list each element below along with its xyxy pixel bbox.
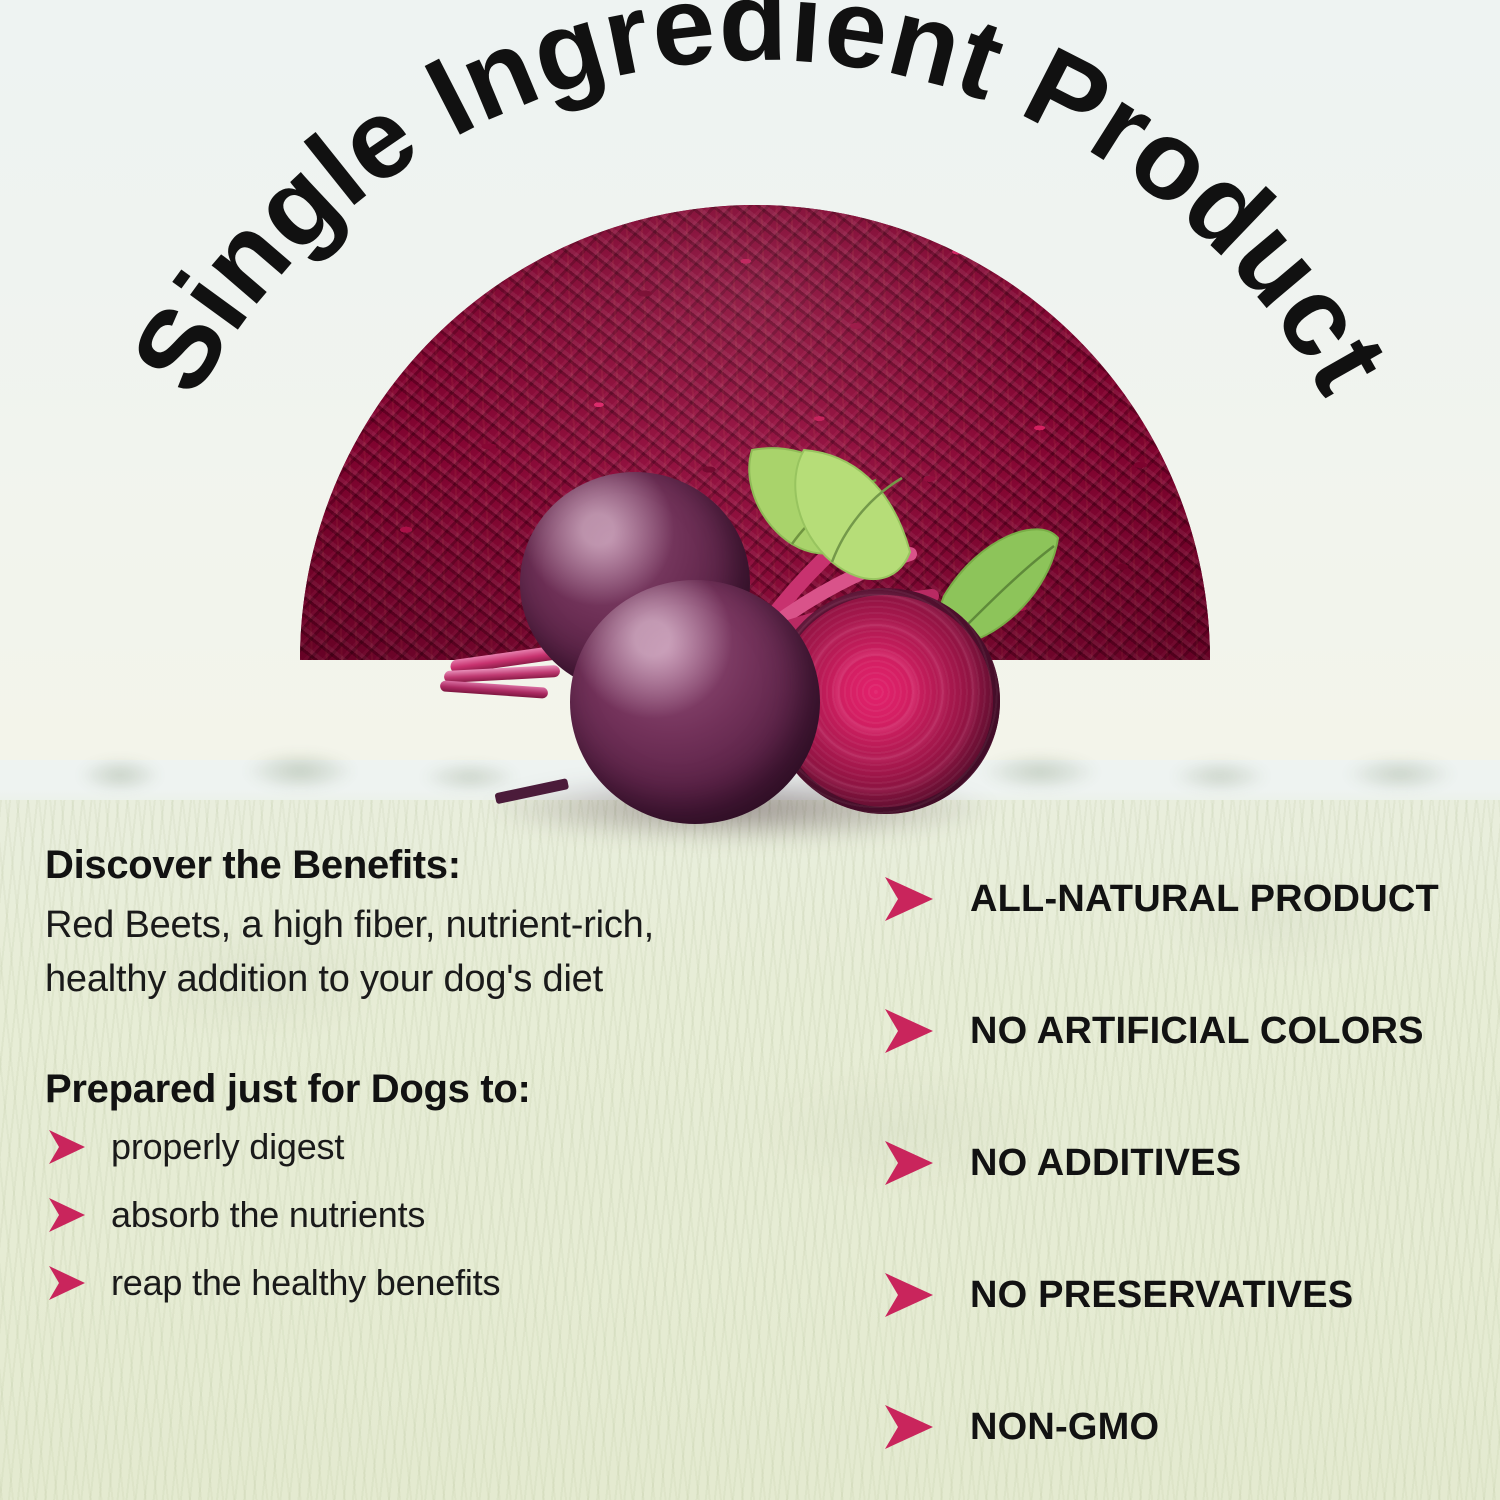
claim-label: NO ADDITIVES: [970, 1142, 1241, 1185]
prepared-item-label: absorb the nutrients: [111, 1194, 425, 1236]
benefits-body: Red Beets, a high fiber, nutrient-rich, …: [45, 899, 765, 1007]
claims-list: ALL-NATURAL PRODUCT NO ARTIFICIAL COLORS…: [880, 833, 1480, 1493]
arrow-bullet-icon: [880, 870, 938, 928]
claims-column: ALL-NATURAL PRODUCT NO ARTIFICIAL COLORS…: [880, 833, 1480, 1493]
arrow-bullet-icon: [880, 1398, 938, 1456]
arrow-bullet-icon: [880, 1134, 938, 1192]
prepared-list: properly digest absorb the nutrients rea…: [45, 1125, 765, 1305]
list-item: NO ADDITIVES: [880, 1097, 1480, 1229]
list-item: ALL-NATURAL PRODUCT: [880, 833, 1480, 965]
claim-label: NO ARTIFICIAL COLORS: [970, 1010, 1424, 1053]
list-item: absorb the nutrients: [45, 1193, 765, 1237]
arrow-bullet-icon: [880, 1002, 938, 1060]
prepared-heading: Prepared just for Dogs to:: [45, 1067, 765, 1111]
product-infographic: Single Ingredient Product: [0, 0, 1500, 1500]
prepared-item-label: properly digest: [111, 1126, 344, 1168]
benefits-heading: Discover the Benefits:: [45, 843, 765, 887]
list-item: NO PRESERVATIVES: [880, 1229, 1480, 1361]
arc-headline-textpath: Single Ingredient Product: [107, 0, 1414, 413]
list-item: properly digest: [45, 1125, 765, 1169]
fresh-beets-image: [440, 420, 1060, 860]
list-item: NO ARTIFICIAL COLORS: [880, 965, 1480, 1097]
arrow-bullet-icon: [45, 1125, 89, 1169]
claim-label: ALL-NATURAL PRODUCT: [970, 878, 1439, 921]
list-item: NON-GMO: [880, 1361, 1480, 1493]
arrow-bullet-icon: [880, 1266, 938, 1324]
list-item: reap the healthy benefits: [45, 1261, 765, 1305]
beet-whole-front: [570, 580, 820, 824]
prepared-item-label: reap the healthy benefits: [111, 1262, 500, 1304]
claim-label: NON-GMO: [970, 1406, 1159, 1449]
arrow-bullet-icon: [45, 1193, 89, 1237]
claim-label: NO PRESERVATIVES: [970, 1274, 1353, 1317]
arc-headline-text: Single Ingredient Product: [107, 0, 1414, 413]
benefits-column: Discover the Benefits: Red Beets, a high…: [45, 843, 765, 1329]
arrow-bullet-icon: [45, 1261, 89, 1305]
